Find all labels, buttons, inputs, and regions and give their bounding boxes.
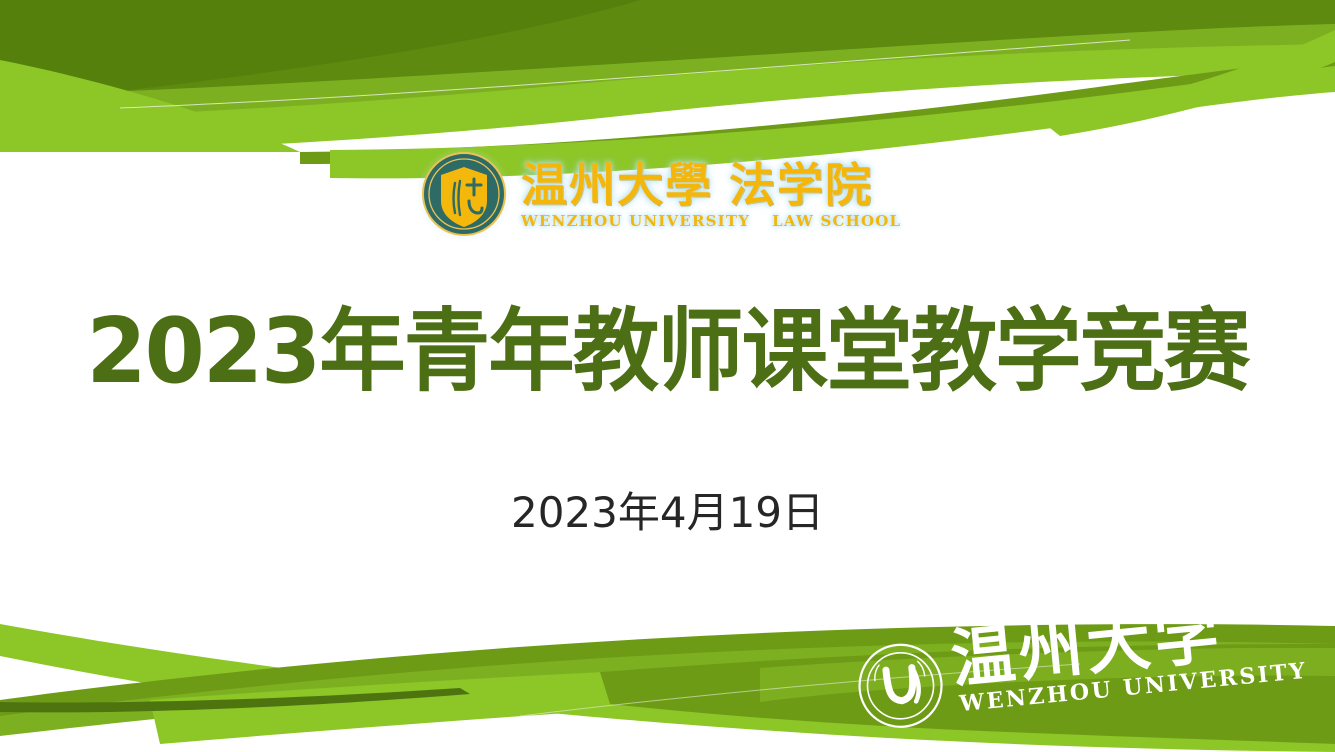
watermark-text: 温州大学 WENZHOU UNIVERSITY — [948, 622, 1309, 718]
logo-wordmark: 温州大學法学院 WENZHOU UNIVERSITYLAW SCHOOL — [521, 144, 920, 244]
watermark-english: WENZHOU UNIVERSITY — [958, 658, 1308, 717]
logo-english-university: WENZHOU UNIVERSITY — [521, 212, 750, 230]
presentation-slide: 温州大學法学院 WENZHOU UNIVERSITYLAW SCHOOL 202… — [0, 0, 1335, 752]
university-seal-icon — [415, 145, 513, 243]
logo-chinese-school: 法学院 — [729, 158, 873, 212]
watermark-chinese: 温州大学 — [948, 622, 1306, 696]
slide-title: 2023年青年教师课堂教学竞赛 — [27, 296, 1309, 408]
logo-english-school: LAW SCHOOL — [772, 212, 901, 230]
logo-chinese-name: 温州大學法学院 — [521, 159, 920, 211]
law-school-logo: 温州大學法学院 WENZHOU UNIVERSITYLAW SCHOOL — [415, 138, 920, 250]
logo-english-name: WENZHOU UNIVERSITYLAW SCHOOL — [521, 212, 920, 230]
university-watermark: 温州大学 WENZHOU UNIVERSITY — [845, 622, 1335, 752]
logo-chinese-university: 温州大學 — [521, 158, 713, 212]
slide-date: 2023年4月19日 — [0, 486, 1335, 540]
watermark-seal-icon — [854, 639, 948, 733]
